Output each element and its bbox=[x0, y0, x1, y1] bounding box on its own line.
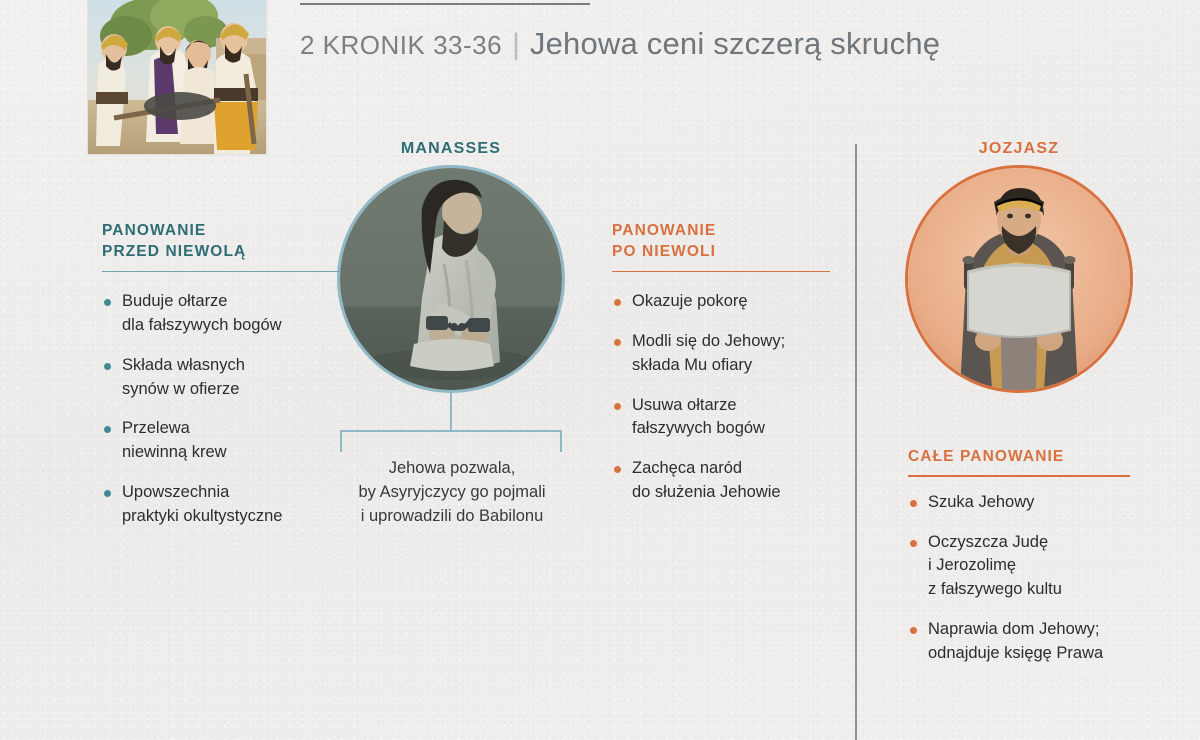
column-before-exile-rule bbox=[102, 271, 340, 273]
list-item: Szuka Jehowy bbox=[908, 491, 1134, 515]
jozjasz-label: JOZJASZ bbox=[908, 140, 1130, 158]
column-before-exile: PANOWANIE PRZED NIEWOLĄ Buduje ołtarze d… bbox=[102, 220, 342, 544]
list-item: Naprawia dom Jehowy; odnajduje księgę Pr… bbox=[908, 618, 1134, 666]
manasses-medallion bbox=[340, 168, 562, 390]
jozjasz-portrait-ring bbox=[908, 168, 1130, 390]
bracket-caption: Jehowa pozwala, by Asyryjczycy go pojmal… bbox=[330, 456, 574, 528]
column-after-exile-list: Okazuje pokorę Modli się do Jehowy; skła… bbox=[612, 290, 834, 504]
column-after-exile-heading: PANOWANIE PO NIEWOLI bbox=[612, 220, 834, 263]
king-reading-scroll-illustration bbox=[908, 168, 1130, 390]
column-after-exile-rule bbox=[612, 271, 830, 273]
list-item: Modli się do Jehowy; składa Mu ofiary bbox=[612, 330, 834, 378]
column-whole-reign-heading: CAŁE PANOWANIE bbox=[908, 446, 1134, 467]
bracket-stem bbox=[450, 392, 452, 430]
column-before-exile-heading: PANOWANIE PRZED NIEWOLĄ bbox=[102, 220, 342, 263]
list-item: Przelewa niewinną krew bbox=[102, 417, 342, 465]
hero-illustration bbox=[88, 0, 266, 154]
column-whole-reign: CAŁE PANOWANIE Szuka Jehowy Oczyszcza Ju… bbox=[908, 446, 1134, 681]
list-item: Upowszechnia praktyki okultystyczne bbox=[102, 481, 342, 529]
bracket-leg-right bbox=[560, 430, 562, 452]
list-item: Składa własnych synów w ofierze bbox=[102, 354, 342, 402]
column-whole-reign-list: Szuka Jehowy Oczyszcza Judę i Jerozolimę… bbox=[908, 491, 1134, 666]
header: 2 KRONIK 33-36 | Jehowa ceni szczerą skr… bbox=[300, 26, 940, 62]
scripture-reference: 2 KRONIK 33-36 bbox=[300, 30, 502, 61]
page-title: Jehowa ceni szczerą skruchę bbox=[530, 26, 940, 62]
manasses-portrait-ring bbox=[340, 168, 562, 390]
column-divider bbox=[855, 144, 857, 740]
list-item: Buduje ołtarze dla fałszywych bogów bbox=[102, 290, 342, 338]
capture-illustration bbox=[88, 0, 266, 154]
column-after-exile: PANOWANIE PO NIEWOLI Okazuje pokorę Modl… bbox=[612, 220, 834, 521]
list-item: Oczyszcza Judę i Jerozolimę z fałszywego… bbox=[908, 531, 1134, 602]
kneeling-man-in-chains-illustration bbox=[340, 168, 562, 390]
manasses-label: MANASSES bbox=[340, 140, 562, 158]
infographic-canvas: 2 KRONIK 33-36 | Jehowa ceni szczerą skr… bbox=[0, 0, 1200, 740]
column-before-exile-list: Buduje ołtarze dla fałszywych bogów Skła… bbox=[102, 290, 342, 528]
column-whole-reign-rule bbox=[908, 475, 1130, 477]
list-item: Okazuje pokorę bbox=[612, 290, 834, 314]
top-divider-rule bbox=[300, 3, 590, 5]
header-separator: | bbox=[512, 28, 520, 62]
jozjasz-medallion bbox=[908, 168, 1130, 390]
list-item: Zachęca naród do służenia Jehowie bbox=[612, 457, 834, 505]
list-item: Usuwa ołtarze fałszywych bogów bbox=[612, 394, 834, 442]
bracket-bar bbox=[340, 430, 562, 432]
